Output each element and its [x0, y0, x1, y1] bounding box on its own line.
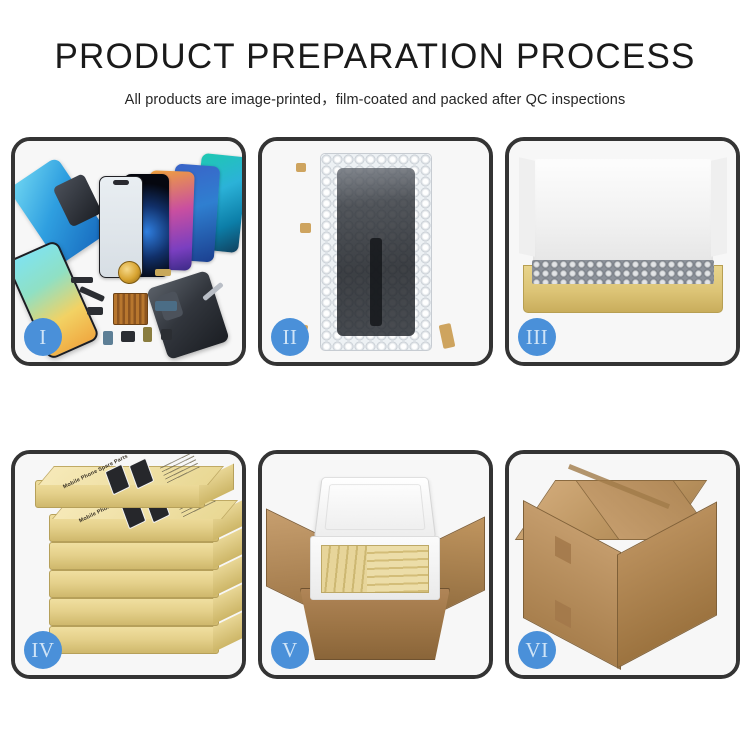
stacked-box — [49, 598, 219, 626]
copper-coil-part — [118, 261, 141, 284]
small-part — [103, 331, 113, 345]
box-lid-white — [533, 159, 713, 269]
small-part — [143, 327, 152, 342]
small-part — [155, 269, 171, 276]
step-panel-3: III — [505, 137, 740, 366]
stacked-box — [49, 542, 219, 570]
step-badge-4: IV — [24, 631, 62, 669]
phone-screen-fan — [93, 155, 243, 267]
step-badge-5: V — [271, 631, 309, 669]
tape-piece — [300, 223, 311, 233]
foam-box — [310, 536, 440, 600]
step-badge-1: I — [24, 318, 62, 356]
small-part — [71, 277, 93, 283]
packed-boxes-inside — [321, 545, 429, 593]
stacked-box-top: Mobile Phone Spare Parts — [49, 514, 219, 542]
foam-box-lid — [314, 477, 436, 539]
step-badge-6: VI — [518, 631, 556, 669]
step-panel-4: Mobile Phone Spare Parts Mobile Phone Sp… — [11, 450, 246, 679]
step-panel-1: I — [11, 137, 246, 366]
box-stack: Mobile Phone Spare Parts Mobile Phone Sp… — [31, 476, 233, 664]
small-part — [87, 307, 103, 315]
small-part — [161, 329, 172, 340]
page-header: PRODUCT PREPARATION PROCESS All products… — [0, 0, 750, 109]
stacked-box-upper: Mobile Phone Spare Parts — [35, 480, 205, 508]
flex-cable — [370, 238, 382, 326]
tape-piece — [439, 323, 456, 349]
step-badge-2: II — [271, 318, 309, 356]
step-panel-6: VI — [505, 450, 740, 679]
small-part — [121, 331, 135, 342]
step-panel-2: II — [258, 137, 493, 366]
tape-piece — [296, 163, 306, 172]
chip-grid-part — [113, 293, 148, 325]
step-badge-3: III — [518, 318, 556, 356]
stacked-box — [49, 626, 219, 654]
page-title: PRODUCT PREPARATION PROCESS — [0, 38, 750, 77]
page-subtitle: All products are image-printed，film-coat… — [0, 88, 750, 109]
stacked-box — [49, 570, 219, 598]
process-steps-grid: I II III — [11, 137, 735, 679]
step-panel-5: V — [258, 450, 493, 679]
small-part — [155, 301, 177, 311]
kraft-box-tray — [523, 265, 723, 313]
bubble-wrap-contents — [532, 260, 714, 284]
